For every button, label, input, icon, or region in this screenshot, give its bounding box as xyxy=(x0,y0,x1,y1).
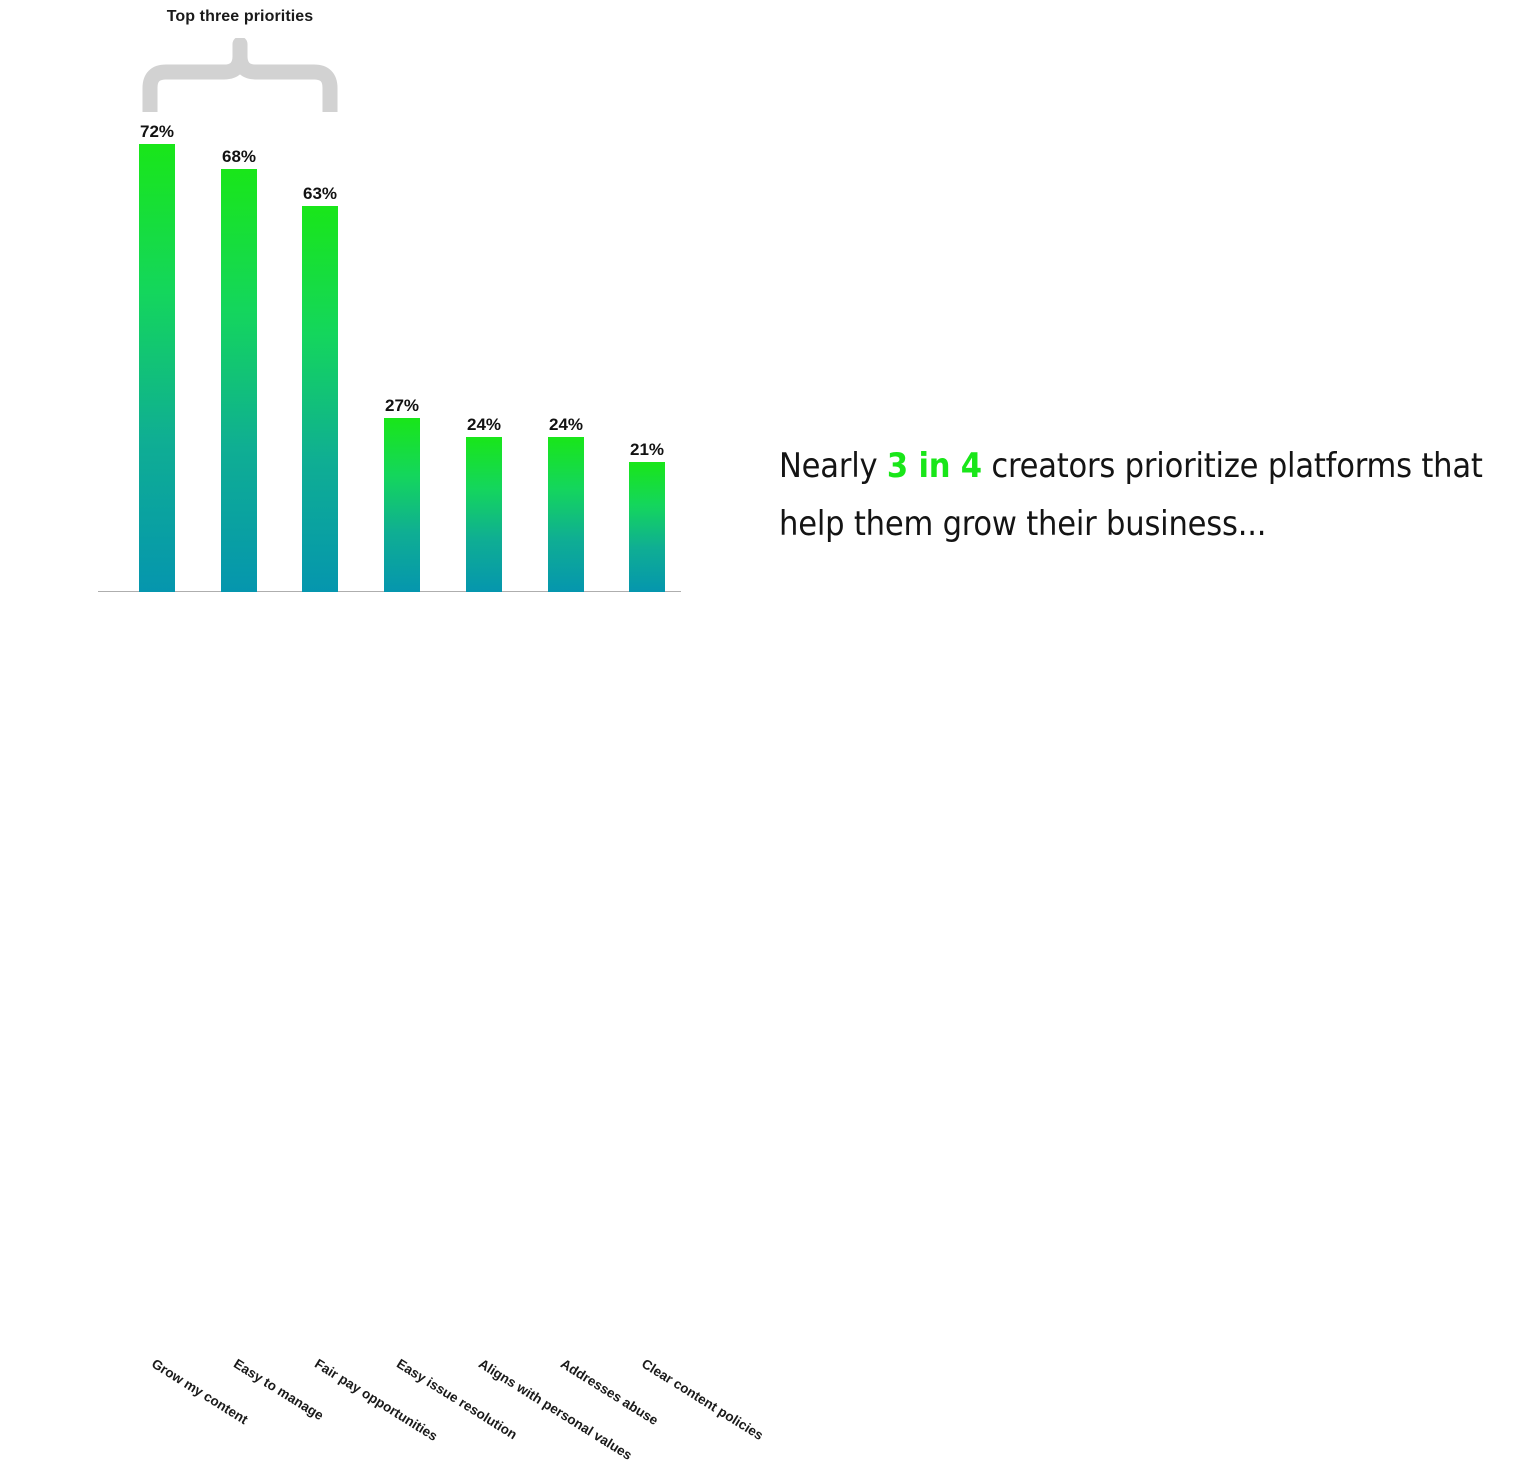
bar-rect[interactable] xyxy=(139,144,175,592)
bar-rect[interactable] xyxy=(466,437,502,592)
bar-value-label: 72% xyxy=(121,122,193,142)
bar-category-label: Aligns with personal values xyxy=(476,1356,635,1463)
bar-value-label: 27% xyxy=(366,396,438,416)
callout-text: Nearly 3 in 4 creators prioritize platfo… xyxy=(779,437,1499,553)
bar-rect[interactable] xyxy=(384,418,420,592)
bar-value-label: 21% xyxy=(611,440,683,460)
bar-rect[interactable] xyxy=(302,206,338,592)
callout-highlight: 3 in 4 xyxy=(887,446,982,486)
plot-area: 72% Grow my content 68% Easy to manage 6… xyxy=(0,0,740,755)
bar-value-label: 24% xyxy=(448,415,520,435)
bar-value-label: 63% xyxy=(284,184,356,204)
bar-rect[interactable] xyxy=(221,169,257,592)
bar-rect[interactable] xyxy=(629,462,665,592)
chart-panel: Top three priorities 72% Grow my content… xyxy=(0,0,740,755)
bar-rect[interactable] xyxy=(548,437,584,592)
bar-category-label: Clear content policies xyxy=(639,1356,766,1443)
bar-value-label: 24% xyxy=(530,415,602,435)
bar-value-label: 68% xyxy=(203,147,275,167)
callout-lead: Nearly xyxy=(779,446,887,486)
